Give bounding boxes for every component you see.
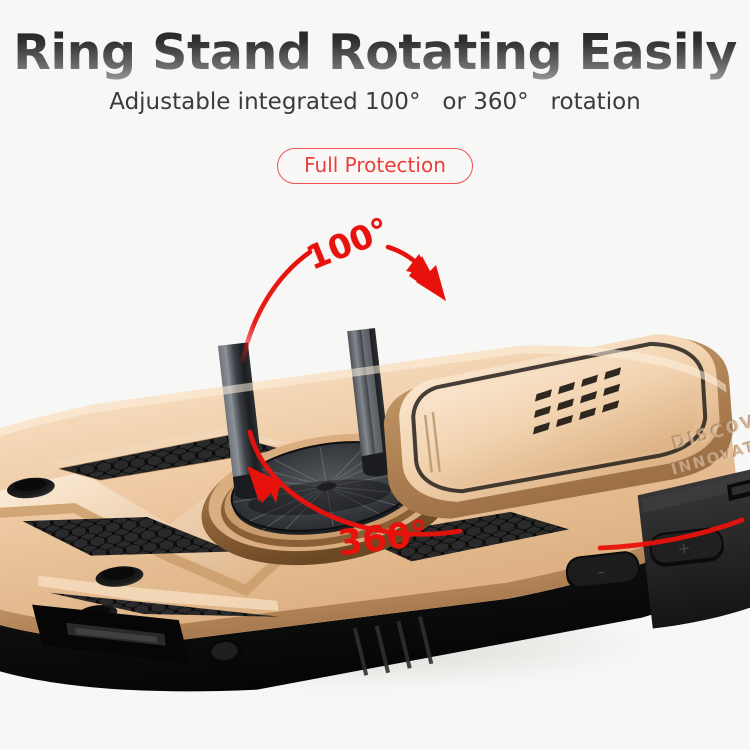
status-badge: Full Protection: [277, 148, 473, 184]
badge-container: Full Protection: [0, 148, 750, 184]
subtitle: Adjustable integrated 100° or 360° rotat…: [0, 89, 750, 115]
label-100-degrees: 100°: [301, 209, 395, 277]
svg-text:+: +: [677, 539, 692, 558]
marketing-banner: Ring Stand Rotating Easily Adjustable in…: [0, 0, 750, 750]
page-title: Ring Stand Rotating Easily: [0, 22, 750, 84]
